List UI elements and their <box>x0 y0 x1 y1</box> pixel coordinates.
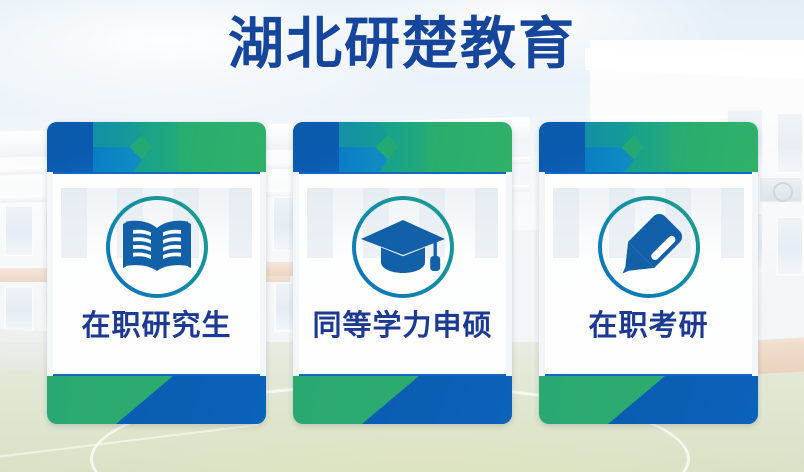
graduation-cap-icon <box>348 192 458 302</box>
page-title: 湖北研楚教育 <box>0 13 804 75</box>
footer-blue-wedge <box>362 376 512 424</box>
card-label: 同等学力申硕 <box>312 309 492 343</box>
pencil-icon <box>594 192 704 302</box>
open-book-icon <box>102 192 212 302</box>
card-label: 在职研究生 <box>81 309 231 343</box>
header-green-wedge <box>379 122 425 172</box>
card-footer-banner <box>47 376 266 424</box>
footer-blue-wedge <box>608 376 758 424</box>
card-zaizhi-kaoyan[interactable]: 在职考研 <box>539 122 758 424</box>
card-footer-banner <box>539 376 758 424</box>
card-body: 在职研究生 <box>53 172 260 374</box>
card-header-banner <box>47 122 266 172</box>
card-footer-banner <box>293 376 512 424</box>
header-green-wedge <box>625 122 671 172</box>
card-row: 在职研究生 <box>47 122 757 424</box>
header-green-wedge <box>133 122 179 172</box>
card-label: 在职考研 <box>588 309 708 343</box>
card-header-banner <box>293 122 512 172</box>
card-tongdeng-xueli-shenshuo[interactable]: 同等学力申硕 <box>293 122 512 424</box>
card-zaizhi-yanjiusheng[interactable]: 在职研究生 <box>47 122 266 424</box>
card-header-banner <box>539 122 758 172</box>
card-body: 同等学力申硕 <box>299 172 506 374</box>
poster-stage: 湖北研楚教育 <box>0 0 804 472</box>
footer-blue-wedge <box>116 376 266 424</box>
card-body: 在职考研 <box>545 172 752 374</box>
